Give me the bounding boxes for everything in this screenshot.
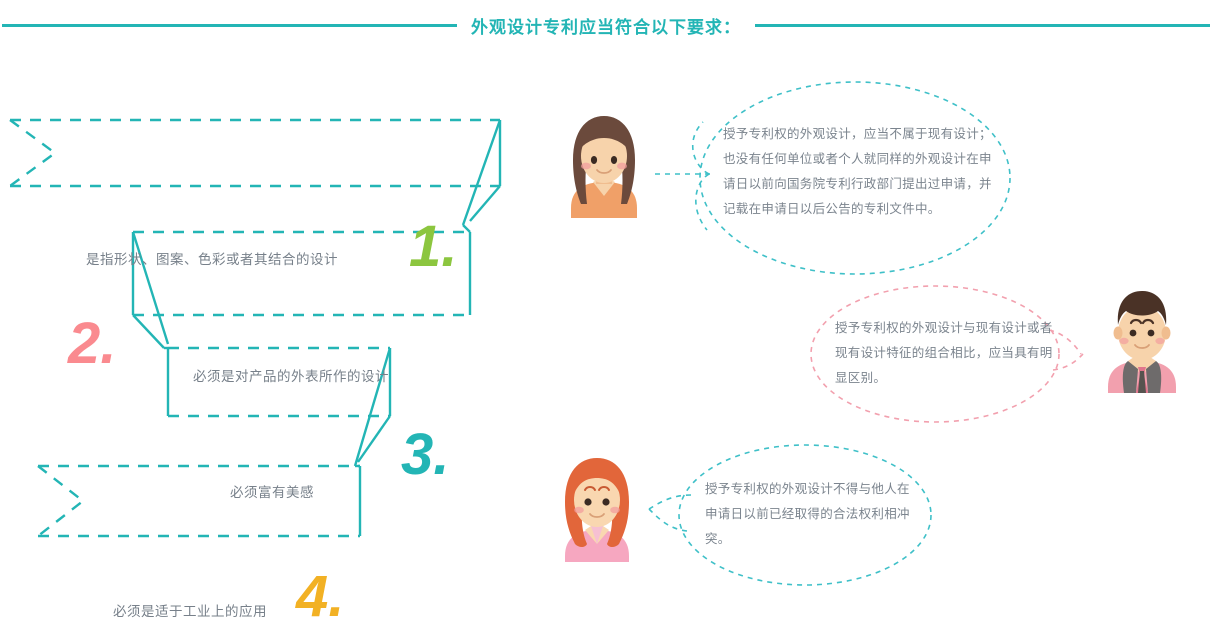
speech-bubble-2-text: 授予专利权的外观设计与现有设计或者现有设计特征的组合相比，应当具有明显区别。 xyxy=(835,316,1060,391)
page-title: 外观设计专利应当符合以下要求： xyxy=(471,13,741,38)
ribbon-label-1: 是指形状、图案、色彩或者其结合的设计 xyxy=(86,248,338,268)
ribbon-number-3: 3. xyxy=(401,426,449,484)
header-rule-right xyxy=(755,24,1210,27)
ribbon-label-4: 必须是适于工业上的应用 xyxy=(113,600,267,620)
speech-bubble-1: 授予专利权的外观设计，应当不属于现有设计；也没有任何单位或者个人就同样的外观设计… xyxy=(655,78,1035,288)
ribbon-shape-4 xyxy=(38,466,360,536)
speech-bubble-2: 授予专利权的外观设计与现有设计或者现有设计特征的组合相比，应当具有明显区别。 xyxy=(805,278,1085,433)
infographic-canvas: 外观设计专利应当符合以下要求： xyxy=(0,0,1212,598)
ribbon-number-1: 1. xyxy=(409,218,457,276)
speech-bubble-1-text: 授予专利权的外观设计，应当不属于现有设计；也没有任何单位或者个人就同样的外观设计… xyxy=(723,122,995,222)
speech-bubble-3: 授予专利权的外观设计不得与他人在申请日以前已经取得的合法权利相冲突。 xyxy=(645,437,945,597)
page-header: 外观设计专利应当符合以下要求： xyxy=(0,8,1212,42)
ribbon-label-3: 必须富有美感 xyxy=(230,481,314,501)
woman-brown-hair-avatar xyxy=(563,108,645,223)
woman-red-hair-avatar xyxy=(553,452,641,567)
speech-bubble-3-text: 授予专利权的外观设计不得与他人在申请日以前已经取得的合法权利相冲突。 xyxy=(705,477,920,552)
ribbon-list: 1. 2. 3. 4. 是指形状、图案、色彩或者其结合的设计 必须是对产品的外表… xyxy=(0,96,540,576)
ribbon-number-2: 2. xyxy=(68,315,116,373)
ribbon-label-2: 必须是对产品的外表所作的设计 xyxy=(193,365,389,385)
man-dark-hair-avatar xyxy=(1098,283,1186,398)
header-rule-left xyxy=(2,24,457,27)
ribbon-shape-1 xyxy=(10,120,500,186)
ribbon-number-4: 4. xyxy=(296,568,344,626)
